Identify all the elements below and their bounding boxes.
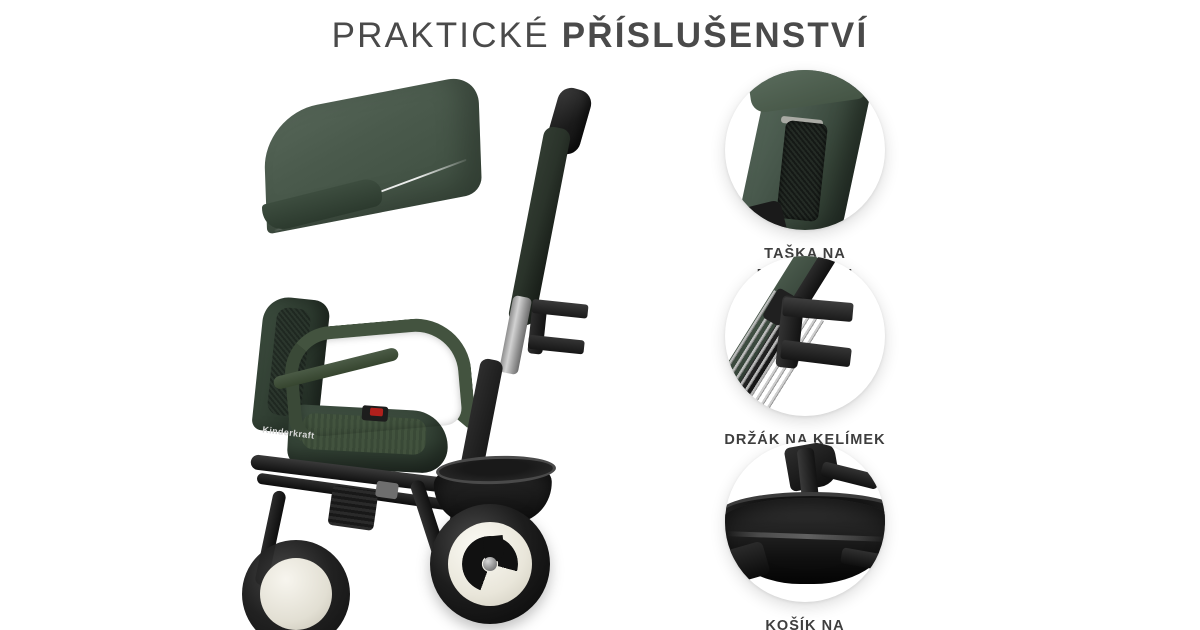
- cup-holder: [527, 299, 594, 357]
- page-title: PRAKTICKÉ PŘÍSLUŠENSTVÍ: [0, 18, 1200, 53]
- pedal: [375, 481, 399, 500]
- feature-callouts: TAŠKA NA DROBNOSTI DRŽÁK NA KELÍMEK: [640, 70, 970, 630]
- footrest: [327, 485, 378, 531]
- basket-mount-arm: [820, 461, 880, 490]
- feature-image-toy-basket: [725, 442, 885, 602]
- title-word-light: PRAKTICKÉ: [332, 16, 550, 55]
- feature-callout-cup-holder: DRŽÁK NA KELÍMEK: [640, 256, 970, 451]
- feature-callout-bag: TAŠKA NA DROBNOSTI: [640, 70, 970, 285]
- harness-buckle-release: [370, 408, 384, 417]
- feature-label-toy-basket-line1: KOŠÍK NA: [640, 616, 970, 630]
- feature-callout-toy-basket: KOŠÍK NA HRAČKY: [640, 442, 970, 630]
- feature-image-bag: [725, 70, 885, 230]
- rear-wheel-hub: [260, 558, 332, 630]
- push-handle-telescopic-tube: [499, 295, 533, 375]
- front-wheel-axle: [483, 557, 497, 571]
- promo-canvas: PRAKTICKÉ PŘÍSLUŠENSTVÍ Kinderkraft: [0, 0, 1200, 630]
- title-space: [550, 16, 562, 55]
- product-photo-trike: Kinderkraft: [190, 70, 660, 630]
- feature-image-cup-holder: [725, 256, 885, 416]
- feature-label-toy-basket: KOŠÍK NA HRAČKY: [640, 616, 970, 630]
- title-word-bold: PŘÍSLUŠENSTVÍ: [562, 16, 869, 55]
